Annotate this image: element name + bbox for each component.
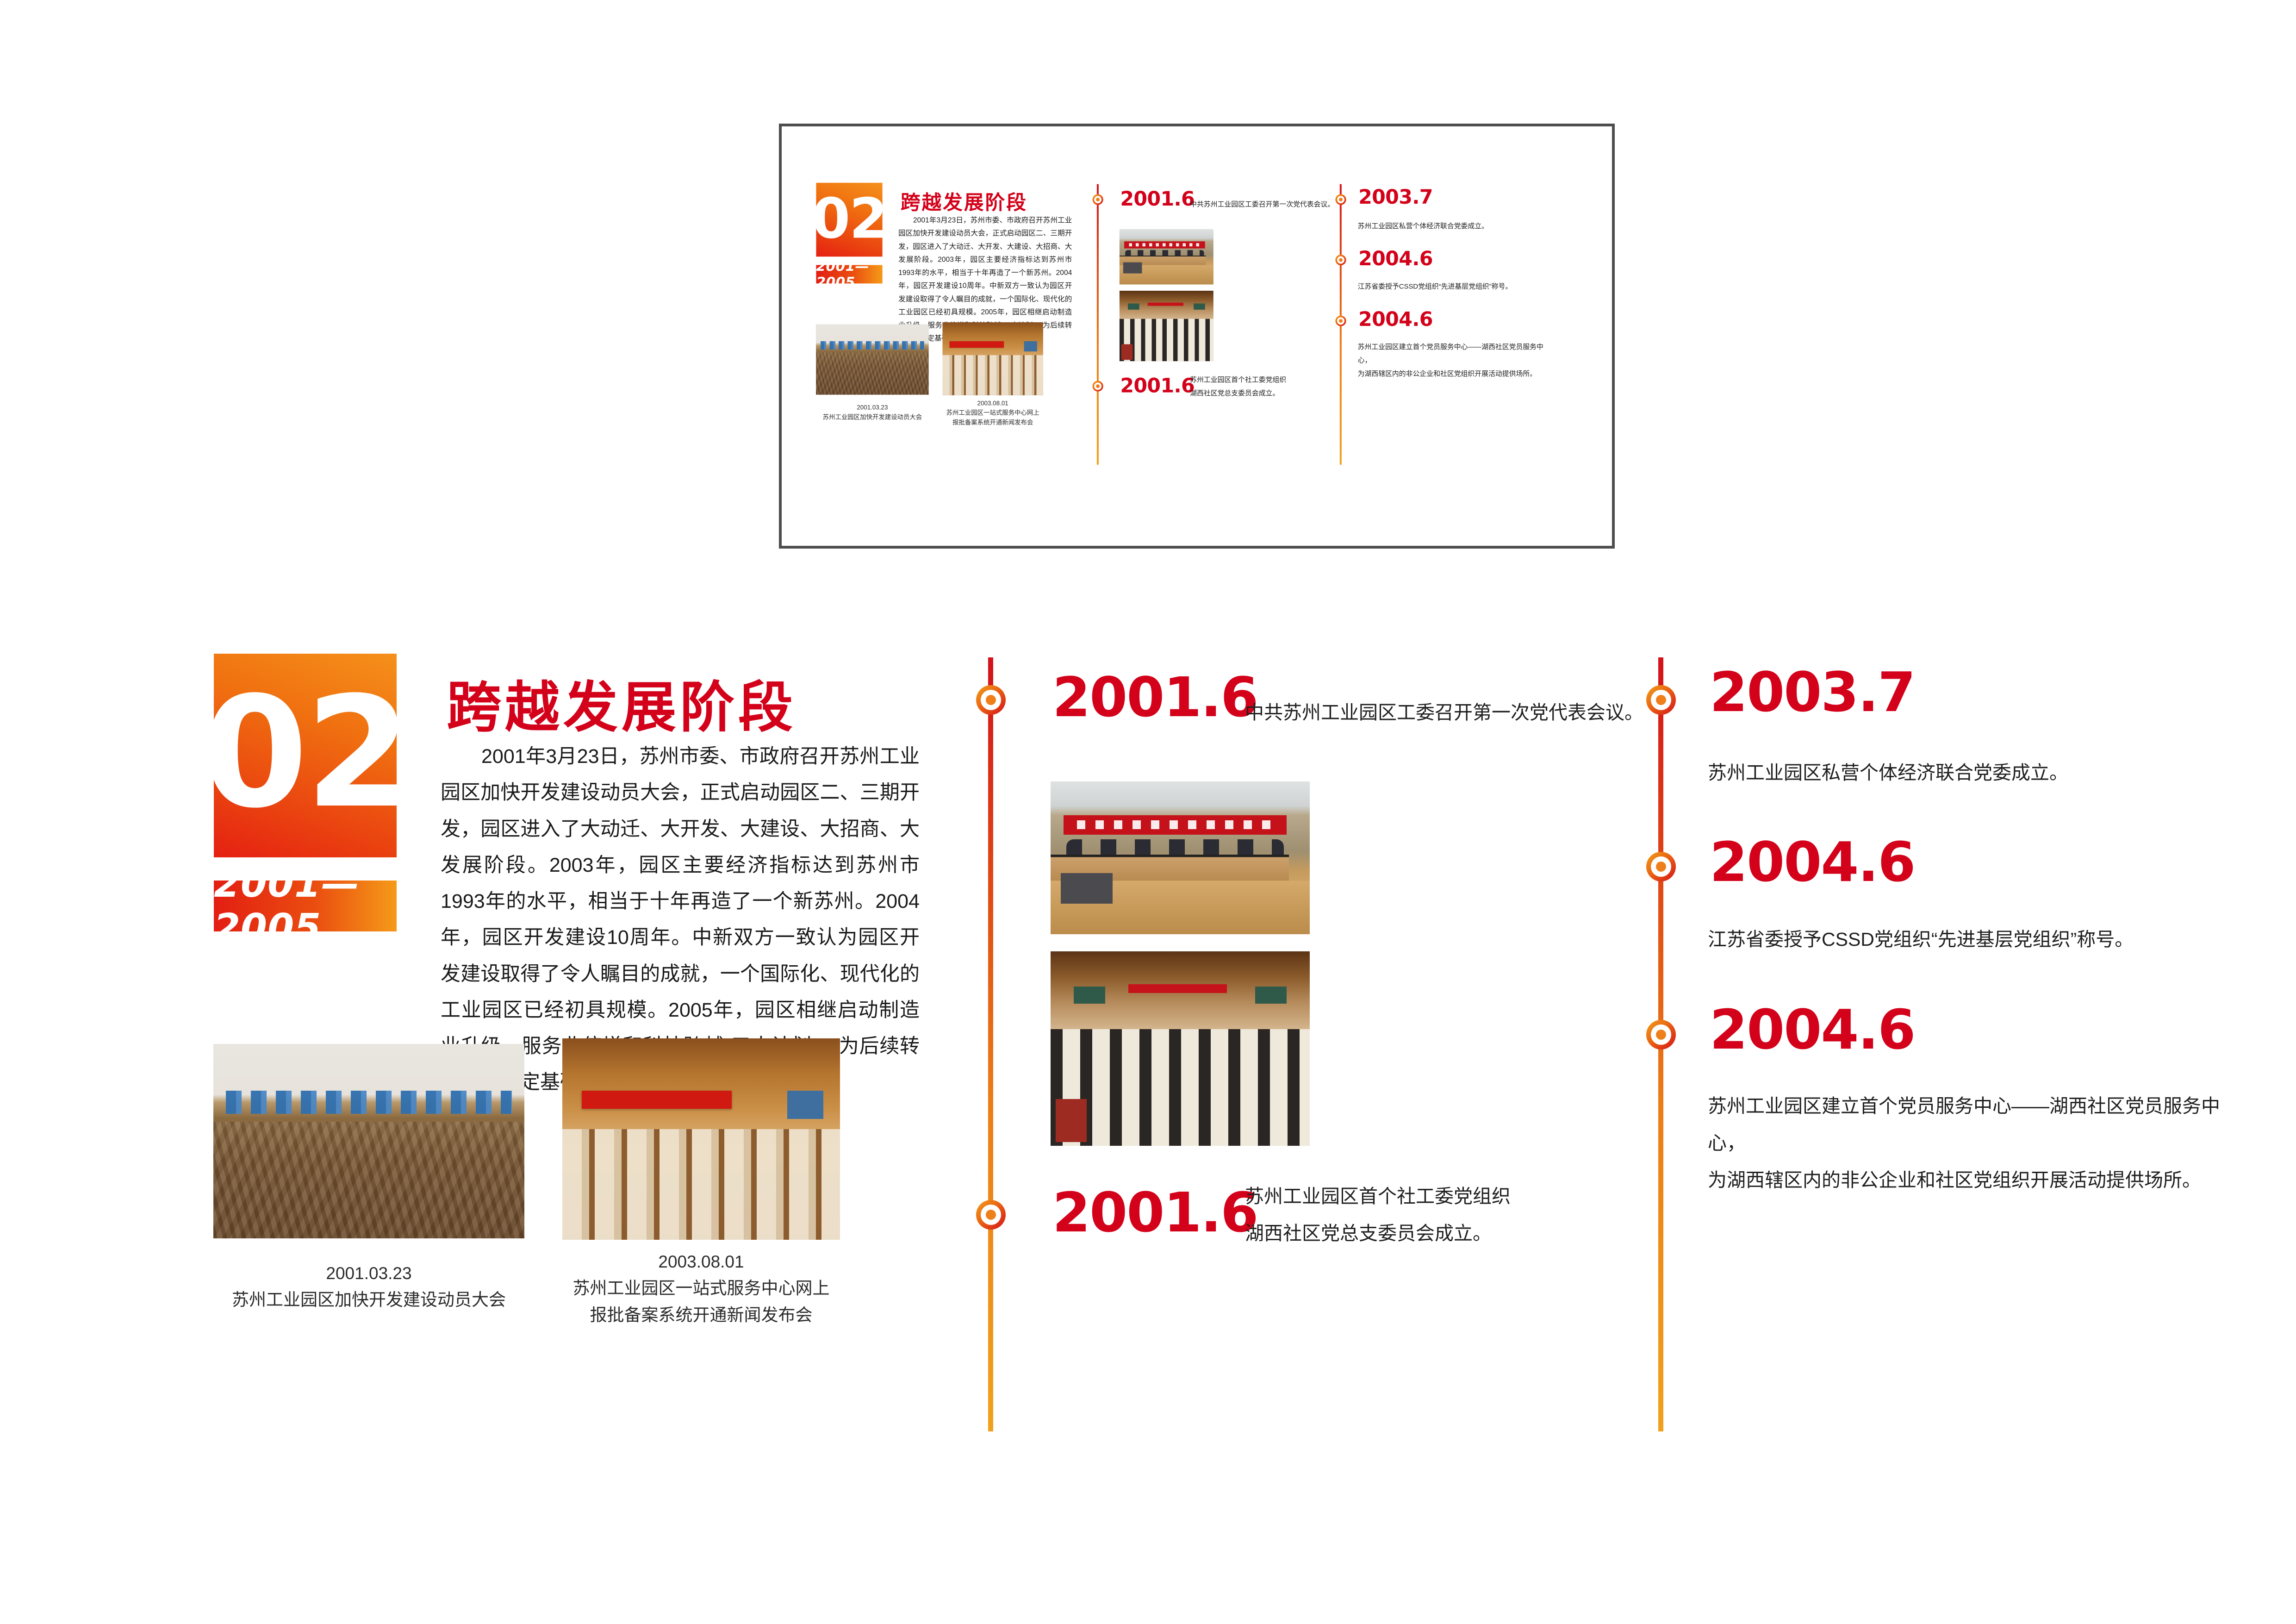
party-congress-audience-photo (1051, 951, 1310, 1146)
truck-field-photo (213, 1044, 524, 1238)
timeline-desc-r1: 苏州工业园区私营个体经济联合党委成立。 (1708, 755, 2194, 792)
badge-years-box: 2001—2005 (214, 881, 397, 931)
section-badge: 02 2001—2005 (214, 654, 399, 931)
timeline-year-l1: 2001.6 (1052, 670, 1257, 725)
timeline-desc-l2: 苏州工业园区首个社工委党组织 湖西社区党总支委员会成立。 (1245, 1178, 1597, 1252)
badge-years-range: 2001—2005 (214, 862, 397, 950)
timeline-marker-icon[interactable] (1646, 1020, 1676, 1049)
timeline-year-l2: 2001.6 (1052, 1185, 1257, 1240)
timeline-year-r1: 2003.7 (1710, 665, 1915, 719)
timeline-year-r3: 2004.6 (1710, 1002, 1915, 1057)
photo-caption-date-2: 2003.08.01 (548, 1249, 854, 1275)
timeline-desc-r3: 苏州工业园区建立首个党员服务中心——湖西社区党员服务中心， 为湖西辖区内的非公企… (1708, 1088, 2231, 1199)
timeline-desc-l1: 中共苏州工业园区工委召开第一次党代表会议。 (1245, 694, 1661, 731)
timeline-marker-icon[interactable] (976, 1200, 1006, 1230)
timeline-marker-icon[interactable] (976, 685, 1006, 715)
page-title: 跨越发展阶段 (447, 663, 796, 742)
timeline-desc-r2: 江苏省委授予CSSD党组织“先进基层党组织”称号。 (1708, 921, 2217, 958)
timeline-year-r2: 2004.6 (1710, 835, 1915, 889)
photo-caption-date-1: 2001.03.23 (213, 1260, 524, 1287)
timeline-marker-icon[interactable] (1646, 852, 1676, 881)
photo-caption-1: 2001.03.23 苏州工业园区加快开发建设动员大会 (213, 1260, 524, 1313)
photo-caption-2: 2003.08.01 苏州工业园区一站式服务中心网上 报批备案系统开通新闻发布会 (548, 1249, 854, 1328)
badge-number-box: 02 (214, 654, 397, 857)
photo-caption-text-1: 苏州工业园区加快开发建设动员大会 (213, 1287, 524, 1313)
main-spread: 02 2001—2005 跨越发展阶段 2001年3月23日，苏州市委、市政府召… (0, 0, 2296, 1624)
photo-caption-text-2: 苏州工业园区一站式服务中心网上 报批备案系统开通新闻发布会 (548, 1275, 854, 1328)
badge-number: 02 (202, 676, 409, 829)
press-conference-photo (562, 1038, 840, 1240)
timeline-marker-icon[interactable] (1646, 685, 1676, 715)
poster-page: 02 2001—2005 跨越发展阶段 2001年3月23日，苏州市委、市政府召… (0, 0, 2296, 1624)
timeline-line-left (988, 657, 993, 1431)
party-congress-stage-photo (1051, 781, 1310, 934)
